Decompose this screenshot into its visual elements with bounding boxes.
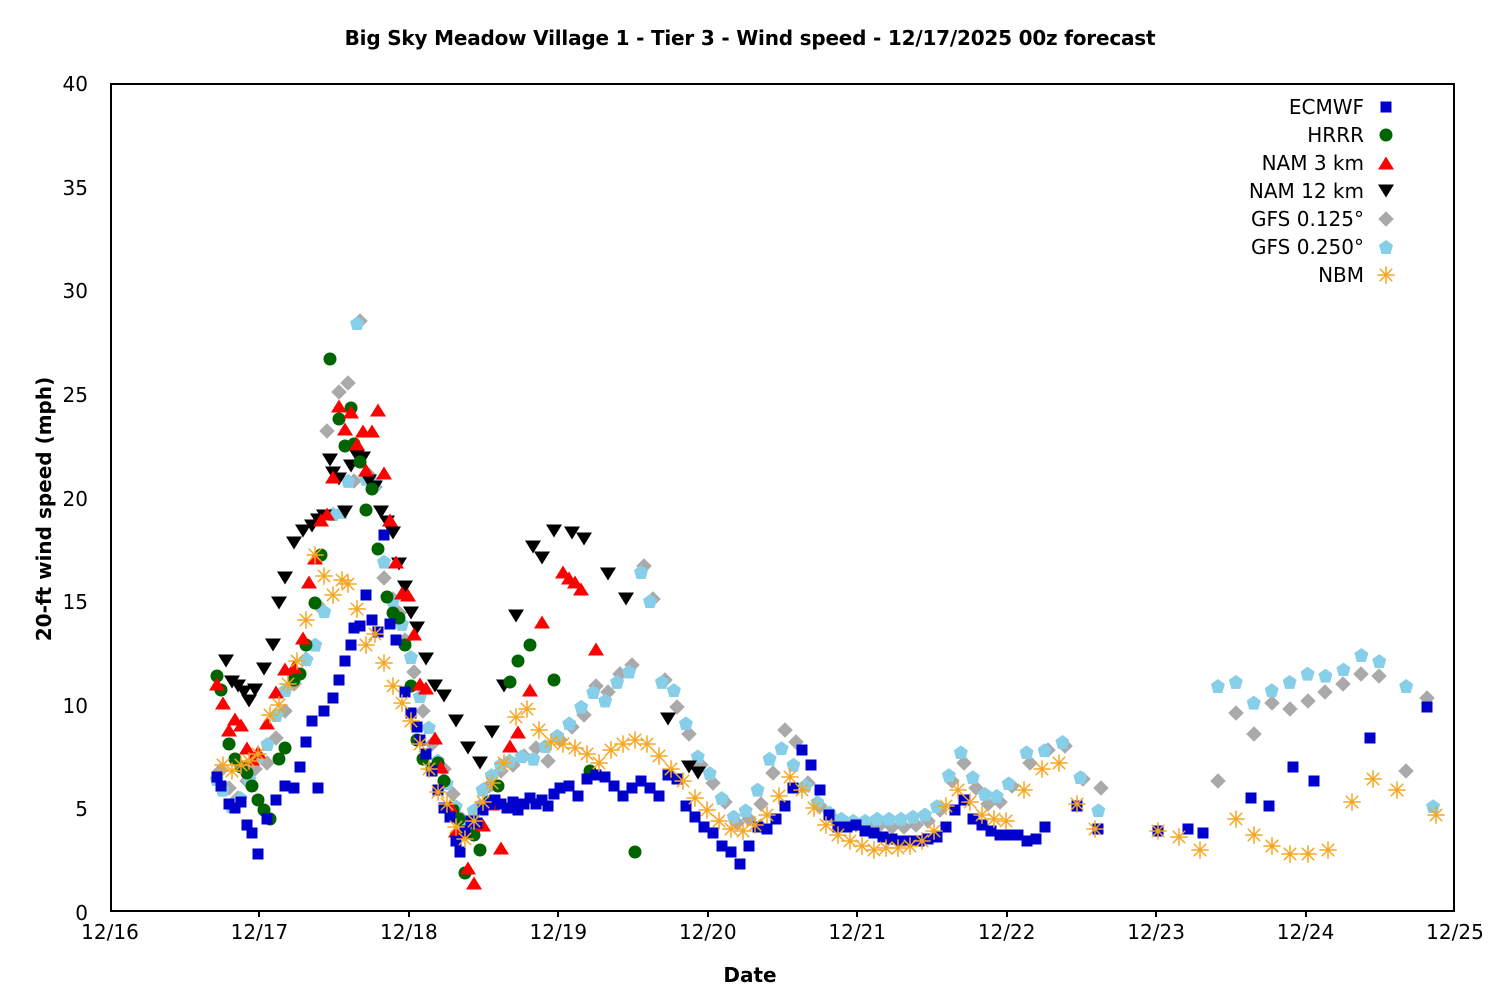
legend-label: NAM 3 km bbox=[1262, 151, 1364, 175]
data-point bbox=[554, 735, 572, 753]
data-point bbox=[324, 586, 342, 604]
triangle-up-marker-icon bbox=[1364, 153, 1408, 173]
data-point bbox=[781, 768, 799, 786]
data-point bbox=[261, 706, 279, 724]
data-point bbox=[686, 789, 704, 807]
data-point bbox=[1245, 826, 1263, 844]
data-point bbox=[348, 600, 366, 618]
x-tick-label: 12/21 bbox=[787, 920, 927, 944]
x-tick-label: 12/24 bbox=[1236, 920, 1376, 944]
data-point bbox=[997, 812, 1015, 830]
data-point bbox=[650, 747, 668, 765]
data-point bbox=[1263, 837, 1281, 855]
legend-item-nam-3-km[interactable]: NAM 3 km bbox=[1078, 149, 1408, 177]
data-point bbox=[793, 781, 811, 799]
data-point bbox=[829, 826, 847, 844]
data-point bbox=[232, 756, 250, 774]
y-tick-label: 25 bbox=[28, 383, 88, 407]
data-point bbox=[578, 745, 596, 763]
chart-legend: ECMWFHRRRNAM 3 kmNAM 12 kmGFS 0.125°GFS … bbox=[1078, 93, 1408, 289]
triangle-down-marker-icon bbox=[1364, 181, 1408, 201]
data-point bbox=[1364, 770, 1382, 788]
diamond-marker-icon bbox=[1364, 209, 1408, 229]
square-marker-icon bbox=[1364, 97, 1408, 117]
data-point bbox=[530, 721, 548, 739]
y-tick-label: 30 bbox=[28, 279, 88, 303]
data-point bbox=[429, 783, 447, 801]
data-point bbox=[817, 816, 835, 834]
x-axis-title: Date bbox=[0, 963, 1500, 987]
data-point bbox=[913, 832, 931, 850]
data-point bbox=[949, 781, 967, 799]
data-point bbox=[270, 696, 288, 714]
data-point bbox=[339, 575, 357, 593]
legend-item-ecmwf[interactable]: ECMWF bbox=[1078, 93, 1408, 121]
data-point bbox=[366, 625, 384, 643]
data-point bbox=[937, 797, 955, 815]
data-point bbox=[602, 741, 620, 759]
data-point bbox=[626, 731, 644, 749]
data-point bbox=[1227, 810, 1245, 828]
data-point bbox=[447, 818, 465, 836]
data-point bbox=[901, 837, 919, 855]
data-point bbox=[614, 735, 632, 753]
data-point bbox=[542, 733, 560, 751]
data-point bbox=[420, 760, 438, 778]
y-tick-label: 40 bbox=[28, 72, 88, 96]
y-tick-label: 5 bbox=[28, 797, 88, 821]
legend-item-gfs-0-250[interactable]: GFS 0.250° bbox=[1078, 233, 1408, 261]
data-point bbox=[590, 754, 608, 772]
data-point bbox=[402, 712, 420, 730]
data-point bbox=[288, 652, 306, 670]
legend-item-nbm[interactable]: NBM bbox=[1078, 261, 1408, 289]
x-tick-label: 12/18 bbox=[339, 920, 479, 944]
x-tick-label: 12/16 bbox=[40, 920, 180, 944]
y-tick-label: 15 bbox=[28, 590, 88, 614]
y-tick-label: 20 bbox=[28, 487, 88, 511]
data-point bbox=[507, 708, 525, 726]
x-tick-label: 12/22 bbox=[937, 920, 1077, 944]
data-point bbox=[1050, 754, 1068, 772]
data-point bbox=[214, 756, 232, 774]
data-point bbox=[495, 754, 513, 772]
data-point bbox=[357, 636, 375, 654]
legend-item-nam-12-km[interactable]: NAM 12 km bbox=[1078, 177, 1408, 205]
data-point bbox=[638, 735, 656, 753]
data-point bbox=[1170, 828, 1188, 846]
data-point bbox=[333, 571, 351, 589]
data-point bbox=[1191, 841, 1209, 859]
legend-label: ECMWF bbox=[1289, 95, 1364, 119]
data-point bbox=[674, 772, 692, 790]
data-point bbox=[483, 774, 501, 792]
legend-label: NAM 12 km bbox=[1249, 179, 1364, 203]
data-point bbox=[411, 735, 429, 753]
data-point bbox=[393, 694, 411, 712]
data-point bbox=[1015, 781, 1033, 799]
data-point bbox=[985, 810, 1003, 828]
data-point bbox=[223, 762, 241, 780]
x-tick-label: 12/23 bbox=[1086, 920, 1226, 944]
legend-label: NBM bbox=[1318, 263, 1364, 287]
star-marker-icon bbox=[1364, 265, 1408, 285]
data-point bbox=[758, 806, 776, 824]
y-tick-label: 10 bbox=[28, 694, 88, 718]
circle-marker-icon bbox=[1364, 125, 1408, 145]
data-point bbox=[1343, 793, 1361, 811]
data-point bbox=[853, 837, 871, 855]
data-point bbox=[770, 787, 788, 805]
legend-item-gfs-0-125[interactable]: GFS 0.125° bbox=[1078, 205, 1408, 233]
data-point bbox=[279, 675, 297, 693]
legend-label: GFS 0.250° bbox=[1251, 235, 1364, 259]
data-point bbox=[375, 654, 393, 672]
data-point bbox=[973, 806, 991, 824]
data-point bbox=[698, 801, 716, 819]
data-point bbox=[438, 795, 456, 813]
data-point bbox=[841, 832, 859, 850]
legend-label: HRRR bbox=[1307, 123, 1364, 147]
data-point bbox=[1033, 760, 1051, 778]
x-tick-label: 12/20 bbox=[638, 920, 778, 944]
data-point bbox=[315, 567, 333, 585]
data-point bbox=[1086, 820, 1104, 838]
data-point bbox=[456, 830, 474, 848]
data-point bbox=[722, 820, 740, 838]
data-point bbox=[865, 841, 883, 859]
data-point bbox=[1427, 806, 1445, 824]
data-point bbox=[961, 793, 979, 811]
x-tick-label: 12/25 bbox=[1385, 920, 1500, 944]
data-point bbox=[566, 739, 584, 757]
data-point bbox=[662, 760, 680, 778]
x-tick-label: 12/19 bbox=[488, 920, 628, 944]
pentagon-marker-icon bbox=[1364, 237, 1408, 257]
data-point bbox=[249, 745, 267, 763]
y-tick-label: 35 bbox=[28, 176, 88, 200]
data-point bbox=[1281, 845, 1299, 863]
data-point bbox=[474, 793, 492, 811]
data-point bbox=[710, 812, 728, 830]
x-tick-label: 12/17 bbox=[189, 920, 329, 944]
data-point bbox=[465, 812, 483, 830]
data-point bbox=[925, 822, 943, 840]
legend-label: GFS 0.125° bbox=[1251, 207, 1364, 231]
data-point bbox=[1149, 822, 1167, 840]
data-point bbox=[518, 700, 536, 718]
data-point bbox=[306, 546, 324, 564]
data-point bbox=[877, 839, 895, 857]
data-point bbox=[746, 816, 764, 834]
data-point bbox=[734, 822, 752, 840]
legend-item-hrrr[interactable]: HRRR bbox=[1078, 121, 1408, 149]
data-point bbox=[1068, 795, 1086, 813]
data-point bbox=[297, 611, 315, 629]
data-point bbox=[240, 752, 258, 770]
data-point bbox=[1319, 841, 1337, 859]
chart-title: Big Sky Meadow Village 1 - Tier 3 - Wind… bbox=[0, 26, 1500, 50]
data-point bbox=[805, 799, 823, 817]
data-point bbox=[1388, 781, 1406, 799]
data-point bbox=[384, 677, 402, 695]
data-point bbox=[1299, 845, 1317, 863]
data-point bbox=[889, 839, 907, 857]
